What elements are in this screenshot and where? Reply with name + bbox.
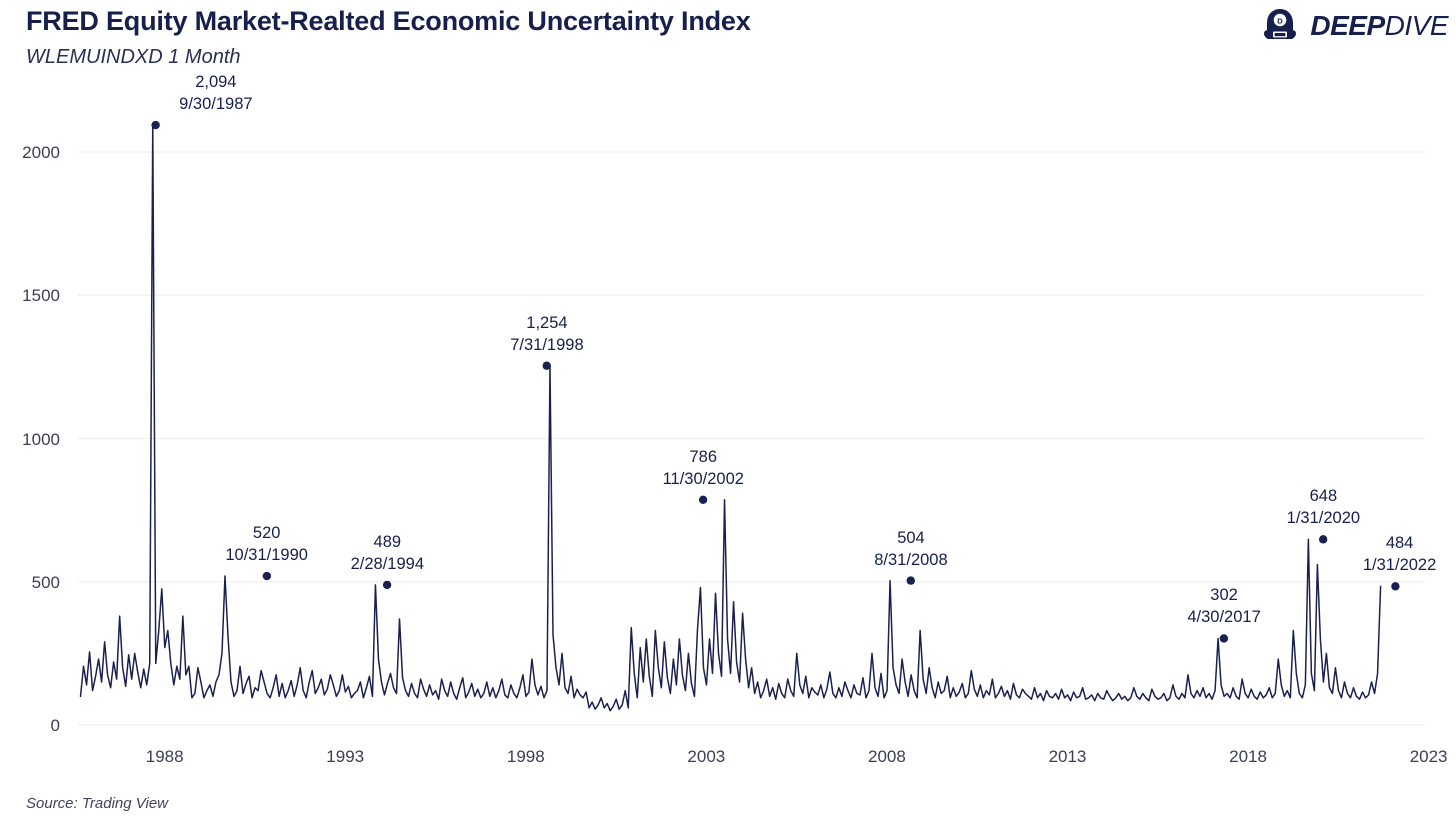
data-point-marker [543, 362, 551, 370]
x-axis-tick-label: 2023 [1389, 748, 1456, 765]
annotation-value: 1,254 [510, 312, 583, 334]
line-chart: 0500100015002000198819931998200320082013… [0, 0, 1456, 814]
annotation-date: 1/31/2020 [1287, 507, 1360, 529]
y-axis-tick-label: 1500 [0, 287, 60, 304]
y-axis-tick-label: 0 [0, 717, 60, 734]
data-point-annotation: 5048/31/2008 [874, 527, 947, 571]
chart-svg [0, 0, 1456, 814]
x-axis-tick-label: 2013 [1027, 748, 1107, 765]
x-axis-tick-label: 1993 [305, 748, 385, 765]
data-point-marker [263, 572, 271, 580]
data-point-marker [907, 576, 915, 584]
data-point-annotation: 2,0949/30/1987 [179, 71, 252, 115]
x-axis-tick-label: 2008 [847, 748, 927, 765]
data-point-marker [1319, 535, 1327, 543]
annotation-value: 504 [874, 527, 947, 549]
annotation-value: 786 [663, 446, 744, 468]
x-axis-tick-label: 1988 [125, 748, 205, 765]
annotation-value: 489 [351, 531, 424, 553]
data-point-annotation: 78611/30/2002 [663, 446, 744, 490]
annotation-date: 11/30/2002 [663, 468, 744, 490]
data-point-marker [699, 496, 707, 504]
annotation-value: 648 [1287, 485, 1360, 507]
x-axis-tick-label: 2018 [1208, 748, 1288, 765]
data-point-annotation: 52010/31/1990 [225, 522, 308, 566]
y-axis-tick-label: 1000 [0, 431, 60, 448]
y-axis-tick-label: 500 [0, 574, 60, 591]
data-point-marker [1220, 634, 1228, 642]
annotation-date: 2/28/1994 [351, 553, 424, 575]
y-axis-tick-label: 2000 [0, 144, 60, 161]
data-point-annotation: 4841/31/2022 [1363, 532, 1436, 576]
annotation-date: 10/31/1990 [225, 544, 308, 566]
data-point-marker [1391, 582, 1399, 590]
annotation-value: 2,094 [179, 71, 252, 93]
data-point-annotation: 4892/28/1994 [351, 531, 424, 575]
annotation-date: 7/31/1998 [510, 334, 583, 356]
annotation-value: 520 [225, 522, 308, 544]
annotation-value: 484 [1363, 532, 1436, 554]
annotation-date: 8/31/2008 [874, 549, 947, 571]
annotation-date: 9/30/1987 [179, 93, 252, 115]
chart-page: FRED Equity Market-Realted Economic Unce… [0, 0, 1456, 814]
annotation-date: 4/30/2017 [1187, 606, 1260, 628]
x-axis-tick-label: 1998 [486, 748, 566, 765]
data-point-annotation: 1,2547/31/1998 [510, 312, 583, 356]
annotation-date: 1/31/2022 [1363, 554, 1436, 576]
data-point-marker [151, 121, 159, 129]
data-point-annotation: 6481/31/2020 [1287, 485, 1360, 529]
source-note: Source: Trading View [26, 795, 168, 813]
series-line [81, 125, 1381, 711]
x-axis-tick-label: 2003 [666, 748, 746, 765]
annotation-value: 302 [1187, 584, 1260, 606]
data-point-marker [383, 581, 391, 589]
data-point-annotation: 3024/30/2017 [1187, 584, 1260, 628]
